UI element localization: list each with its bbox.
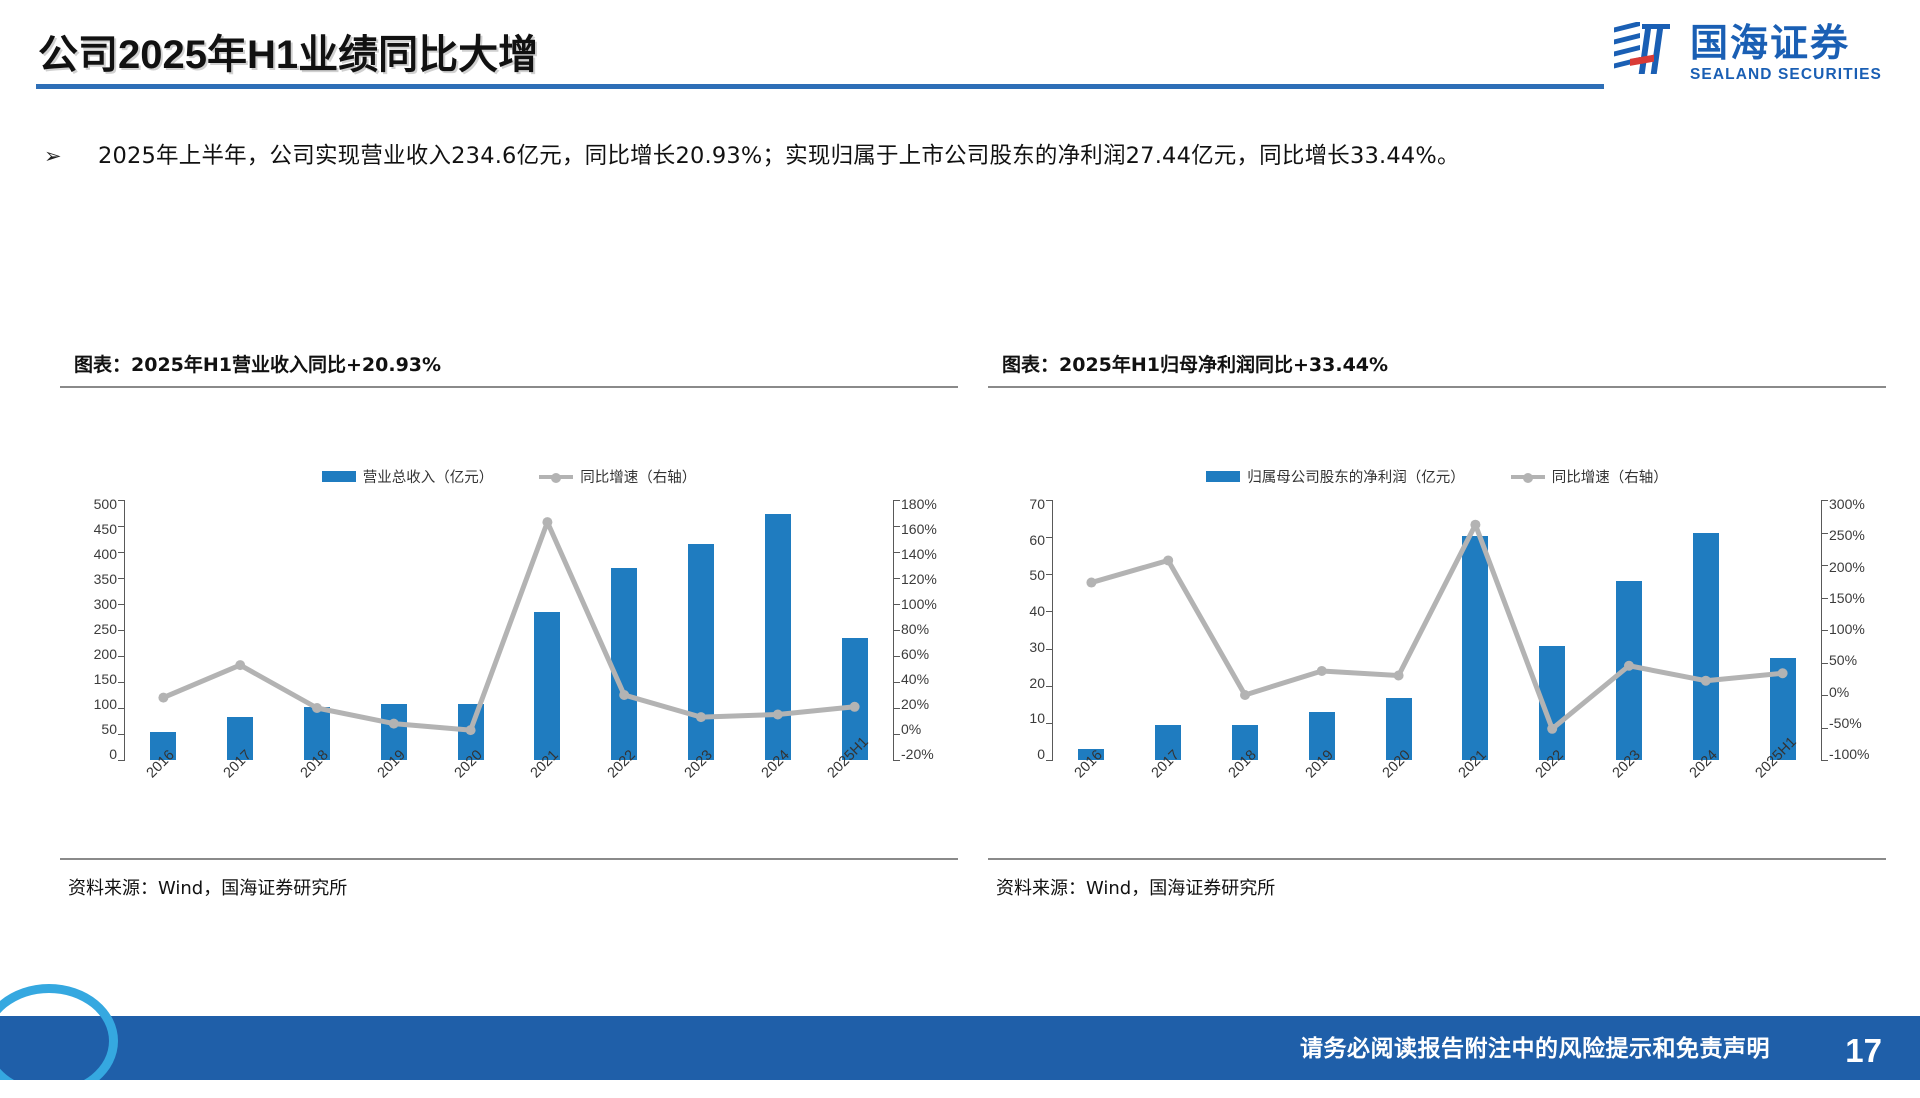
axis-tickmark (1046, 500, 1053, 501)
bullet-paragraph: ➢ 2025年上半年，公司实现营业收入234.6亿元，同比增长20.93%；实现… (44, 140, 1874, 172)
axis-tickmark (1046, 686, 1053, 687)
axis-tickmark (1821, 533, 1828, 534)
y-tick-label-left: 250 (94, 624, 124, 634)
plot-area-revenue (125, 500, 893, 760)
legend-bar-swatch-icon (1206, 471, 1240, 482)
data-point (1778, 668, 1788, 678)
sealand-logo-mark (1612, 22, 1678, 84)
axis-tickmark (118, 708, 125, 709)
x-label-slot: 2021 (1437, 766, 1514, 836)
x-label-slot: 2016 (125, 766, 202, 836)
axis-tickmark (1821, 663, 1828, 664)
y-tick-label-right: 180% (894, 499, 937, 509)
axis-tickmark (1046, 649, 1053, 650)
data-point (619, 690, 629, 700)
plot-revenue: 500450400350300250200150100500 180%160%1… (60, 500, 958, 800)
chart-title-revenue: 图表：2025年H1营业收入同比+20.93% (60, 350, 958, 386)
axis-tickmark (893, 656, 900, 657)
logo-text-cn: 国海证券 (1690, 24, 1850, 62)
x-label-slot: 2025H1 (1744, 766, 1821, 836)
axis-tickmark (1821, 565, 1828, 566)
axis-tickmark (893, 708, 900, 709)
axis-tickmark (893, 682, 900, 683)
y-tick-label-right: 300% (1822, 499, 1865, 509)
x-label-slot: 2020 (1360, 766, 1437, 836)
chart-legend-netprofit: 归属母公司股东的净利润（亿元） 同比增速（右轴） (988, 466, 1886, 487)
axis-tickmark (118, 578, 125, 579)
x-label-slot: 2018 (1207, 766, 1284, 836)
data-point (1394, 671, 1404, 681)
y-tick-label-left: 400 (94, 549, 124, 559)
data-point (466, 725, 476, 735)
x-label-slot: 2019 (1283, 766, 1360, 836)
legend-item-line: 同比增速（右轴） (1511, 466, 1668, 487)
legend-bar-swatch-icon (322, 471, 356, 482)
x-label-slot: 2017 (1130, 766, 1207, 836)
data-point (1701, 676, 1711, 686)
footer-band: 请务必阅读报告附注中的风险提示和免责声明 17 (0, 1016, 1920, 1080)
chart-panel-netprofit: 图表：2025年H1归母净利润同比+33.44% 归属母公司股东的净利润（亿元）… (988, 350, 1886, 910)
x-axis-revenue: 2016201720182019202020212022202320242025… (125, 766, 893, 836)
x-label-slot: 2022 (586, 766, 663, 836)
axis-tickmark (1046, 574, 1053, 575)
y-tick-label-left: 0 (1037, 749, 1052, 759)
x-label-slot: 2016 (1053, 766, 1130, 836)
y-tick-label-left: 350 (94, 574, 124, 584)
y-tick-label-left: 10 (1029, 713, 1052, 723)
axis-tickmark (893, 578, 900, 579)
axis-tickmark (118, 500, 125, 501)
data-point (1086, 578, 1096, 588)
axis-tickmark (118, 552, 125, 553)
y-tick-label-left: 0 (109, 749, 124, 759)
data-point (312, 703, 322, 713)
x-label-slot: 2023 (1591, 766, 1668, 836)
x-label-slot: 2024 (739, 766, 816, 836)
x-label-slot: 2023 (663, 766, 740, 836)
x-label-slot: 2024 (1667, 766, 1744, 836)
page-number: 17 (1845, 1032, 1882, 1070)
axis-tickmark (1046, 723, 1053, 724)
data-point (1317, 666, 1327, 676)
axis-tickmark (1821, 630, 1828, 631)
y-tick-label-right: 0% (894, 724, 921, 734)
data-point (542, 517, 552, 527)
axis-tickmark (1821, 695, 1828, 696)
axis-tickmark (118, 604, 125, 605)
axis-tickmark (893, 500, 900, 501)
y-axis-left-revenue: 500450400350300250200150100500 (60, 500, 124, 760)
plot-netprofit: 706050403020100 300%250%200%150%100%50%0… (988, 500, 1886, 800)
y-tick-label-right: 120% (894, 574, 937, 584)
x-label-slot: 2018 (279, 766, 356, 836)
y-tick-label-right: 50% (1822, 655, 1857, 665)
axis-tickmark (893, 604, 900, 605)
data-point (1624, 661, 1634, 671)
legend-label-bar: 归属母公司股东的净利润（亿元） (1247, 466, 1465, 487)
footer-arc-decoration (0, 984, 118, 1098)
axis-tickmark (893, 760, 900, 761)
y-tick-label-right: 250% (1822, 530, 1865, 540)
data-point (158, 693, 168, 703)
axis-tickmark (893, 734, 900, 735)
chart-body-netprofit: 归属母公司股东的净利润（亿元） 同比增速（右轴） 706050403020100… (988, 388, 1886, 858)
axis-tickmark (1821, 598, 1828, 599)
y-tick-label-left: 30 (1029, 642, 1052, 652)
chart-legend-revenue: 营业总收入（亿元） 同比增速（右轴） (60, 466, 958, 487)
x-label-slot: 2020 (432, 766, 509, 836)
plot-area-netprofit (1053, 500, 1821, 760)
y-tick-label-right: -100% (1822, 749, 1869, 759)
y-tick-label-right: 200% (1822, 562, 1865, 572)
y-tick-label-right: 60% (894, 649, 929, 659)
axis-tickmark (118, 656, 125, 657)
legend-label-line: 同比增速（右轴） (1552, 466, 1668, 487)
y-tick-label-right: 150% (1822, 593, 1865, 603)
data-point (696, 712, 706, 722)
y-tick-label-right: 80% (894, 624, 929, 634)
x-label-slot: 2021 (509, 766, 586, 836)
company-logo: 国海证券 SEALAND SECURITIES (1612, 22, 1882, 84)
chart-body-revenue: 营业总收入（亿元） 同比增速（右轴） 500450400350300250200… (60, 388, 958, 858)
y-tick-label-right: 100% (894, 599, 937, 609)
legend-item-bar: 归属母公司股东的净利润（亿元） (1206, 466, 1465, 487)
axis-tickmark (893, 630, 900, 631)
axis-tickmark (893, 552, 900, 553)
header-divider (36, 84, 1604, 89)
y-tick-label-right: 100% (1822, 624, 1865, 634)
data-point (1547, 724, 1557, 734)
logo-text-en: SEALAND SECURITIES (1690, 67, 1882, 83)
axis-tickmark (118, 526, 125, 527)
axis-tickmark (118, 630, 125, 631)
axis-tickmark (1821, 760, 1828, 761)
chart-source-revenue: 资料来源：Wind，国海证券研究所 (60, 860, 958, 900)
legend-line-swatch-icon (1511, 471, 1545, 482)
y-tick-label-left: 50 (1029, 570, 1052, 580)
data-point (850, 702, 860, 712)
y-axis-right-revenue: 180%160%140%120%100%80%60%40%20%0%-20% (894, 500, 958, 760)
legend-line-swatch-icon (539, 471, 573, 482)
y-axis-right-netprofit: 300%250%200%150%100%50%0%-50%-100% (1822, 500, 1886, 760)
y-tick-label-right: -20% (894, 749, 934, 759)
y-tick-label-right: 140% (894, 549, 937, 559)
x-label-slot: 2022 (1514, 766, 1591, 836)
axis-tickmark (118, 734, 125, 735)
y-tick-label-left: 50 (101, 724, 124, 734)
x-label-slot: 2017 (202, 766, 279, 836)
axis-tickmark (1821, 500, 1828, 501)
legend-label-bar: 营业总收入（亿元） (363, 466, 494, 487)
axis-tickmark (893, 526, 900, 527)
data-point (389, 719, 399, 729)
x-axis-netprofit: 2016201720182019202020212022202320242025… (1053, 766, 1821, 836)
y-tick-label-right: 160% (894, 524, 937, 534)
data-point (1470, 520, 1480, 530)
axis-tickmark (1821, 728, 1828, 729)
x-label-slot: 2025H1 (816, 766, 893, 836)
trend-line (1091, 525, 1782, 729)
legend-item-line: 同比增速（右轴） (539, 466, 696, 487)
trend-line (163, 522, 854, 730)
bullet-arrow-icon: ➢ (44, 140, 98, 172)
axis-tickmark (118, 760, 125, 761)
legend-label-line: 同比增速（右轴） (580, 466, 696, 487)
data-point (1240, 690, 1250, 700)
page-title: 公司2025年H1业绩同比大增 (38, 22, 538, 80)
line-series-revenue (125, 500, 893, 760)
chart-panel-revenue: 图表：2025年H1营业收入同比+20.93% 营业总收入（亿元） 同比增速（右… (60, 350, 958, 910)
data-point (1163, 555, 1173, 565)
line-series-netprofit (1053, 500, 1821, 760)
bullet-text: 2025年上半年，公司实现营业收入234.6亿元，同比增长20.93%；实现归属… (98, 140, 1460, 172)
y-tick-label-left: 200 (94, 649, 124, 659)
y-axis-left-netprofit: 706050403020100 (988, 500, 1052, 760)
chart-source-netprofit: 资料来源：Wind，国海证券研究所 (988, 860, 1886, 900)
axis-tickmark (1046, 611, 1053, 612)
legend-item-bar: 营业总收入（亿元） (322, 466, 494, 487)
axis-tickmark (118, 682, 125, 683)
axis-tickmark (1046, 537, 1053, 538)
y-tick-label-right: -50% (1822, 718, 1862, 728)
x-label-slot: 2019 (355, 766, 432, 836)
data-point (235, 660, 245, 670)
footer-disclaimer: 请务必阅读报告附注中的风险提示和免责声明 (1300, 1029, 1770, 1063)
data-point (773, 710, 783, 720)
axis-tickmark (1046, 760, 1053, 761)
chart-title-netprofit: 图表：2025年H1归母净利润同比+33.44% (988, 350, 1886, 386)
